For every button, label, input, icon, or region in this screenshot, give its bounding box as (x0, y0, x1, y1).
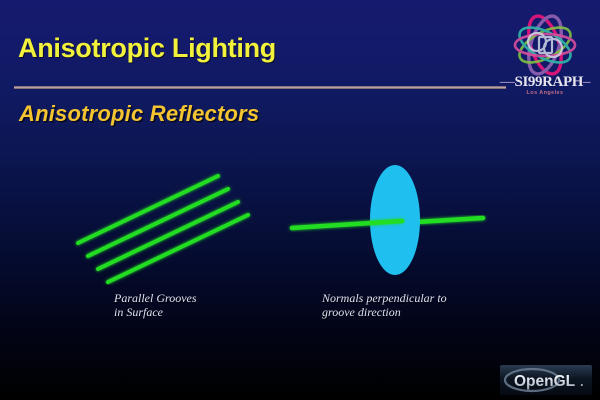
siggraph-logo: —SI99RAPH– Los Angeles (497, 12, 593, 100)
siggraph-rings-icon (497, 12, 593, 78)
siggraph-right-dash: – (583, 74, 590, 90)
normals-caption: Normals perpendicular to groove directio… (322, 292, 447, 319)
normals-diagram (280, 150, 500, 290)
normals-caption-line-1: Normals perpendicular to (322, 292, 447, 306)
groove-line (98, 202, 238, 269)
grooves-caption-line-2: in Surface (114, 306, 197, 320)
groove-line (88, 189, 228, 256)
opengl-logo-period: . (580, 374, 584, 389)
grooves-caption: Parallel Grooves in Surface (114, 292, 197, 319)
parallel-grooves-diagram (60, 160, 260, 285)
title-divider (14, 86, 506, 89)
siggraph-wordmark: —SI99RAPH– (497, 74, 593, 91)
groove-line (78, 176, 218, 243)
groove-line-group (78, 176, 248, 282)
page-subtitle: Anisotropic Reflectors (19, 101, 259, 127)
opengl-logo: OpenGL . (500, 365, 592, 395)
opengl-logo-text: OpenGL (514, 373, 575, 390)
grooves-caption-line-1: Parallel Grooves (114, 292, 197, 306)
slide-canvas: Anisotropic Lighting Anisotropic Reflect… (0, 0, 600, 400)
siggraph-city-label: Los Angeles (497, 90, 593, 96)
page-title: Anisotropic Lighting (18, 33, 276, 64)
siggraph-left-dash: — (500, 74, 515, 90)
siggraph-wordmark-text: SI99RAPH (515, 74, 583, 90)
normals-caption-line-2: groove direction (322, 306, 447, 320)
groove-line (108, 215, 248, 282)
